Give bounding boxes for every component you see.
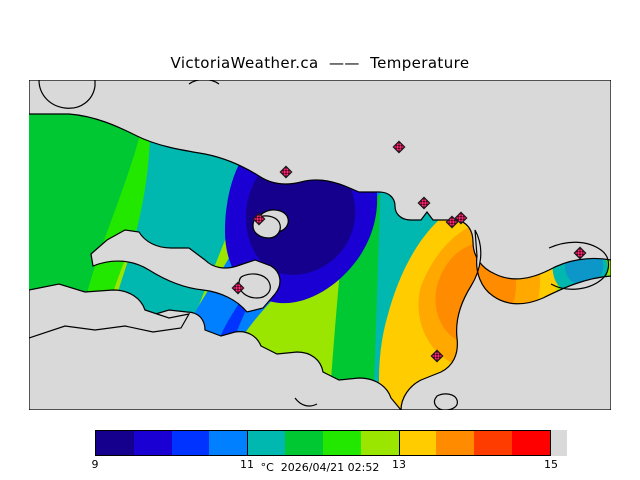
colorbar-segment-6 <box>323 431 361 455</box>
colorbar-segment-5 <box>285 431 323 455</box>
colorbar-segment-3 <box>209 431 247 455</box>
colorbar-overflow <box>551 430 567 456</box>
colorbar-segments <box>95 430 551 456</box>
page-title: VictoriaWeather.ca —— Temperature <box>0 54 640 72</box>
colorbar-segment-10 <box>474 431 512 455</box>
colorbar-segment-1 <box>134 431 172 455</box>
land-southeast-islet <box>434 394 457 410</box>
weather-map-page: VictoriaWeather.ca —— Temperature <box>0 0 640 480</box>
colorbar-tick-11 <box>247 430 248 456</box>
temperature-map[interactable] <box>29 80 611 410</box>
colorbar-segment-11 <box>512 431 550 455</box>
colorbar: 9111315 <box>95 430 567 456</box>
colorbar-segment-0 <box>96 431 134 455</box>
colorbar-segment-9 <box>436 431 474 455</box>
colorbar-segment-8 <box>399 431 437 455</box>
colorbar-caption: °C 2026/04/21 02:52 <box>0 461 640 474</box>
colorbar-segment-7 <box>361 431 399 455</box>
colorbar-tick-13 <box>399 430 400 456</box>
map-canvas <box>29 80 611 410</box>
colorbar-segment-4 <box>247 431 285 455</box>
colorbar-segment-2 <box>172 431 210 455</box>
